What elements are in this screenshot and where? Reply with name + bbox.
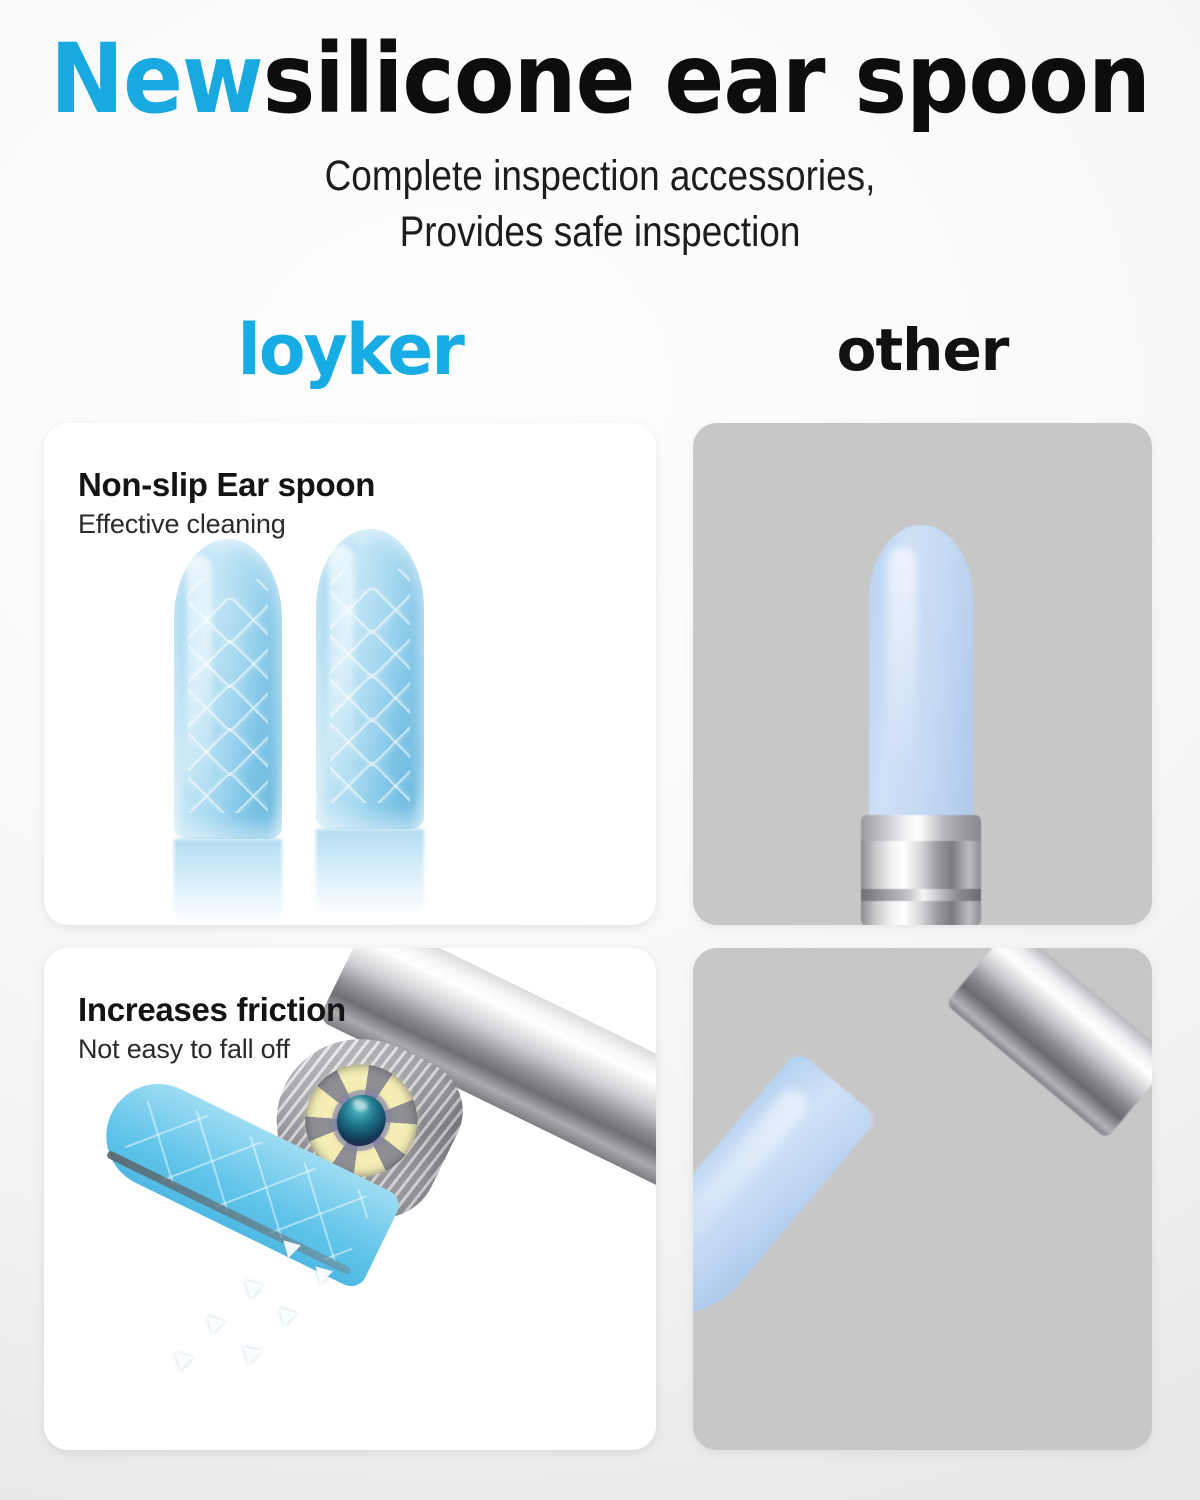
plain-tip-diagonal-illustration bbox=[693, 948, 1152, 1450]
page-headline: Newsilicone ear spoon bbox=[48, 24, 1152, 134]
brand-logo-text: loyker bbox=[237, 309, 462, 391]
subtitle-line-2: Provides safe inspection bbox=[84, 204, 1116, 260]
friction-arrow-icon bbox=[201, 1310, 225, 1334]
headline-rest: silicone ear spoon bbox=[263, 23, 1150, 135]
chrome-probe-barrel bbox=[946, 948, 1152, 1139]
brand-label-other: other bbox=[693, 300, 1152, 400]
product-comparison-infographic: Newsilicone ear spoon Complete inspectio… bbox=[0, 0, 1200, 1500]
tip-highlight bbox=[887, 547, 917, 777]
competitor-card-plain-tip-diagonal bbox=[693, 948, 1152, 1450]
plain-ear-spoon-tip-illustration bbox=[693, 423, 1152, 925]
feature-card-non-slip: Non-slip Ear spoon Effective cleaning bbox=[44, 423, 656, 925]
camera-lens-icon bbox=[328, 1087, 394, 1155]
feature-card-subtitle: Not easy to fall off bbox=[78, 1032, 290, 1066]
friction-arrow-icon bbox=[169, 1346, 193, 1370]
tip-reflection bbox=[316, 829, 424, 915]
subtitle-line-1: Complete inspection accessories, bbox=[84, 148, 1116, 204]
competitor-tip bbox=[693, 1050, 879, 1337]
friction-arrow-icon bbox=[237, 1340, 261, 1364]
competitor-tip bbox=[869, 525, 973, 825]
textured-ear-spoon-tips-illustration bbox=[44, 423, 656, 925]
friction-arrow-icon bbox=[239, 1274, 263, 1298]
friction-arrow-icon bbox=[273, 1302, 297, 1326]
feature-card-title: Increases friction bbox=[78, 990, 346, 1030]
tip-diamond-texture bbox=[330, 569, 410, 803]
brand-logo-loyker: loyker bbox=[44, 300, 656, 400]
page-subtitle: Complete inspection accessories, Provide… bbox=[84, 148, 1116, 260]
barrel-band bbox=[861, 889, 981, 901]
brand-row: loyker other bbox=[0, 300, 1200, 400]
ear-spoon-tip-left bbox=[174, 539, 282, 839]
tip-highlight bbox=[693, 1083, 813, 1263]
other-label-text: other bbox=[837, 316, 1009, 384]
lens-specular-highlight bbox=[350, 1096, 369, 1113]
headline-highlight-word: New bbox=[50, 23, 263, 135]
chrome-probe-barrel bbox=[861, 815, 981, 925]
feature-card-friction: Increases friction Not easy to fall off bbox=[44, 948, 656, 1450]
tip-reflection bbox=[174, 839, 282, 925]
tip-diamond-texture bbox=[188, 579, 268, 813]
ear-spoon-tip-right bbox=[316, 529, 424, 829]
competitor-card-plain-tip bbox=[693, 423, 1152, 925]
barrel-collar bbox=[861, 815, 981, 841]
